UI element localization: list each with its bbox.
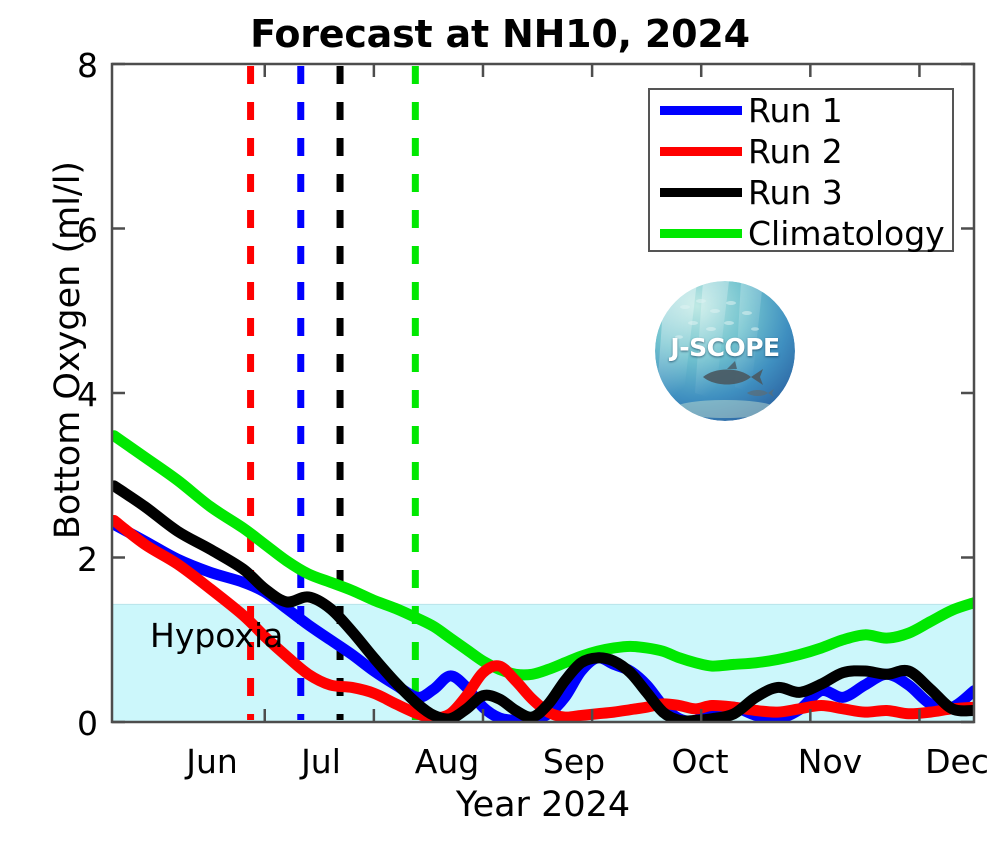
legend-swatch-run-1 bbox=[660, 106, 742, 115]
legend-swatch-run-2 bbox=[660, 147, 742, 156]
legend-swatch-climatology bbox=[660, 229, 742, 238]
legend-label: Run 1 bbox=[748, 94, 843, 127]
legend-item-run-2[interactable]: Run 2 bbox=[650, 131, 952, 172]
legend: Run 1Run 2Run 3Climatology bbox=[648, 88, 954, 252]
legend-item-run-3[interactable]: Run 3 bbox=[650, 172, 952, 213]
legend-item-run-1[interactable]: Run 1 bbox=[650, 90, 952, 131]
jscope-logo-text: J-SCOPE bbox=[655, 333, 795, 362]
legend-label: Run 2 bbox=[748, 135, 843, 168]
legend-label: Climatology bbox=[748, 217, 945, 250]
legend-label: Run 3 bbox=[748, 176, 843, 209]
hypoxia-annotation: Hypoxia bbox=[150, 616, 283, 655]
legend-swatch-run-3 bbox=[660, 188, 742, 197]
chart-figure: Forecast at NH10, 2024 Bottom Oxygen (ml… bbox=[0, 0, 1000, 847]
jscope-logo: J-SCOPE bbox=[655, 281, 795, 421]
legend-item-climatology[interactable]: Climatology bbox=[650, 213, 952, 254]
